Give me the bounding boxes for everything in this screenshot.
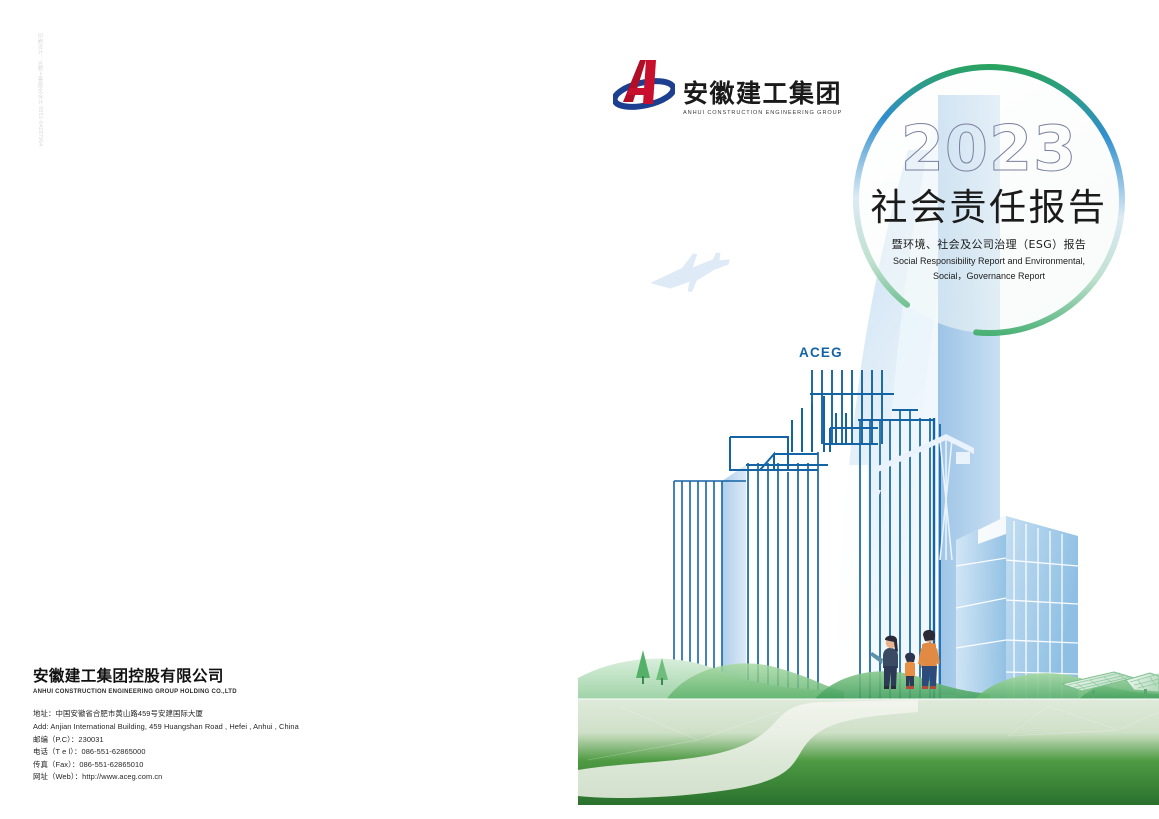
cover-title-cn: 社会责任报告 bbox=[871, 188, 1108, 229]
cover-subtitle-en-line1: Social Responsibility Report and Environ… bbox=[893, 255, 1085, 268]
cover-subtitle-en-line2: Social，Governance Report bbox=[933, 270, 1045, 283]
contact-list: 地址：中国安徽省合肥市黄山路459号安建国际大厦 Add: Anjian Int… bbox=[33, 708, 453, 784]
front-cover-panel: ACEG 安徽建工集团 ANHUI CONSTRUCTION ENGINEERI… bbox=[578, 0, 1159, 819]
figure-child bbox=[905, 653, 915, 689]
glass-tower bbox=[956, 516, 1078, 700]
cover-title-block: 2023 社会责任报告 暨环境、社会及公司治理（ESG）报告 Social Re… bbox=[844, 55, 1134, 345]
contact-website[interactable]: 网址（Web）：http://www.aceg.com.cn bbox=[33, 771, 453, 784]
cover-year: 2023 bbox=[901, 118, 1078, 184]
company-logo: 安徽建工集团 ANHUI CONSTRUCTION ENGINEERING GR… bbox=[613, 58, 842, 118]
company-info-block: 安徽建工集团控股有限公司 ANHUI CONSTRUCTION ENGINEER… bbox=[33, 667, 453, 784]
company-name-en: ANHUI CONSTRUCTION ENGINEERING GROUP HOL… bbox=[33, 689, 453, 695]
contact-telephone: 电话（T e l）：086-551-62865000 bbox=[33, 746, 453, 759]
contact-postal-code: 邮编（P.C）：230031 bbox=[33, 734, 453, 747]
logo-name-en: ANHUI CONSTRUCTION ENGINEERING GROUP bbox=[683, 110, 842, 116]
airplane-icon bbox=[647, 249, 733, 298]
cover-subtitle-cn: 暨环境、社会及公司治理（ESG）报告 bbox=[892, 236, 1087, 252]
grass-band-graphic bbox=[578, 699, 1159, 819]
line-art-buildings bbox=[674, 370, 940, 700]
contact-fax: 传真（Fax）：086-551-62865010 bbox=[33, 759, 453, 772]
report-cover-spread: 印刷设计：合肥上善图文设计 0551-64257964 安徽建工集团控股有限公司… bbox=[0, 0, 1159, 819]
aceg-a-swoosh-icon bbox=[613, 58, 675, 118]
spine-print-credit: 印刷设计：合肥上善图文设计 0551-64257964 bbox=[27, 33, 43, 168]
building-label-aceg: ACEG bbox=[799, 345, 843, 360]
company-name-cn: 安徽建工集团控股有限公司 bbox=[33, 667, 453, 686]
contact-address-en: Add: Anjian International Building, 459 … bbox=[33, 721, 453, 734]
logo-name-cn: 安徽建工集团 bbox=[683, 81, 842, 106]
back-cover-panel: 印刷设计：合肥上善图文设计 0551-64257964 安徽建工集团控股有限公司… bbox=[0, 0, 578, 819]
contact-address-cn: 地址：中国安徽省合肥市黄山路459号安建国际大厦 bbox=[33, 708, 453, 721]
